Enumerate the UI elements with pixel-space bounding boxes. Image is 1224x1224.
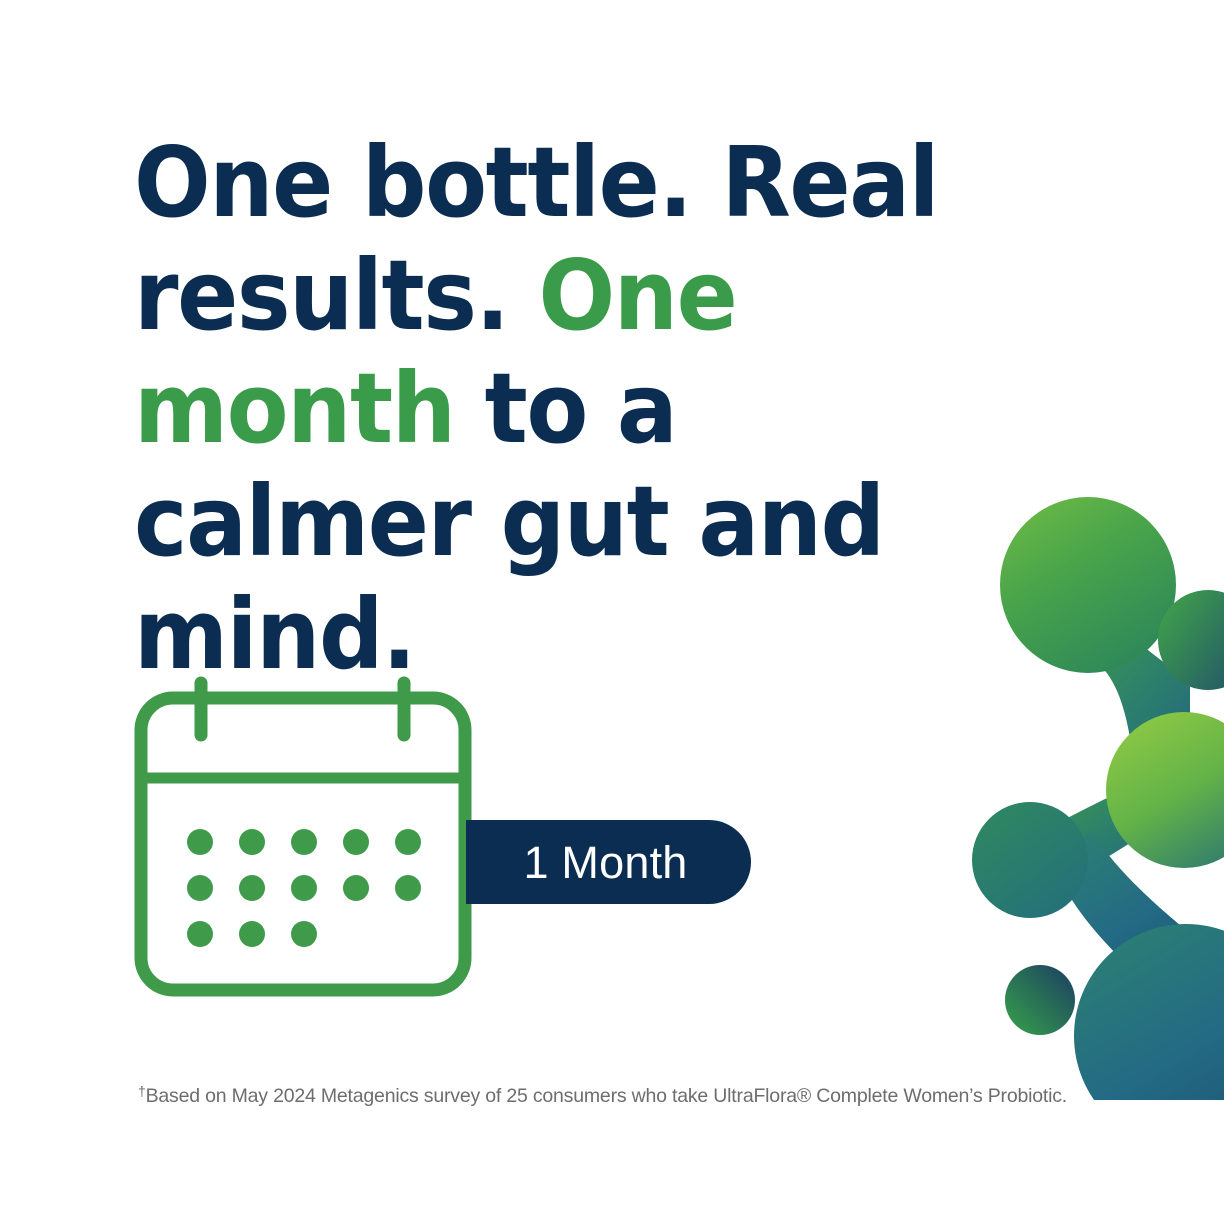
molecule-node-upper-right [1158,590,1224,690]
calendar-dot-grid [187,829,421,947]
molecule-node-top [1000,497,1176,673]
molecule-node-left [972,802,1088,918]
footnote-marker: † [138,1083,146,1099]
footnote-text: Based on May 2024 Metagenics survey of 2… [146,1085,1067,1107]
molecule-node-mid-right [1106,712,1224,868]
molecule-connector-top [1080,620,1190,780]
footnote: †Based on May 2024 Metagenics survey of … [138,1083,1067,1108]
molecule-node-small-lower-left [1005,965,1075,1035]
page-headline: One bottle. Real results. One month to a… [134,126,999,691]
poster-canvas: One bottle. Real results. One month to a… [0,0,1224,1224]
calendar-icon [130,665,480,1005]
molecule-node-bottom-right [1074,924,1224,1100]
duration-badge: 1 Month [466,820,751,904]
molecule-graphic [960,480,1224,1100]
duration-badge-label: 1 Month [524,840,694,885]
headline-part-1: One bottle. Real results. [134,126,938,352]
molecule-connector-bottom [1052,832,1210,992]
molecule-connector-left [1042,780,1166,884]
